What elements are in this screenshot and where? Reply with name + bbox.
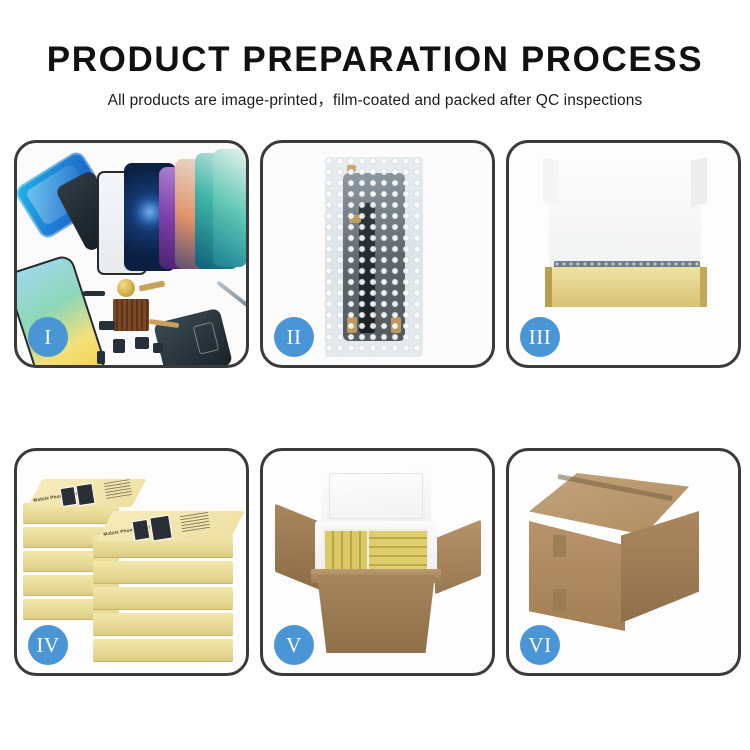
process-step-panel-1[interactable]: I [14,140,249,368]
carton-body [317,575,435,653]
phone-thumbnail-icon [60,486,78,507]
component-chip-icon [83,291,105,296]
carton-front-face [529,521,625,631]
box-lid-flap-left [543,157,559,206]
logic-board-icon [113,299,149,331]
process-step-panel-2[interactable]: II [260,140,495,368]
box-lid-flap-right [691,157,707,206]
bubble-bag-icon [325,157,423,357]
phone-green-icon [213,149,246,267]
carton-flap-right [435,520,481,595]
process-step-panel-5[interactable]: V [260,448,495,676]
step-badge-6: VI [520,625,560,665]
process-step-panel-4[interactable]: Mobile Phone Spare Parts Mobile Phone Sp… [14,448,249,676]
yellow-box-base-icon [545,267,707,307]
process-step-panel-3[interactable]: III [506,140,741,368]
step-badge-5: V [274,625,314,665]
yellow-boxes-horizontal [369,531,427,573]
box-edge-left [545,267,552,307]
phone-thumbnail-icon [149,515,173,542]
box-lid-icon [549,157,701,277]
foam-lid-icon [321,465,431,525]
tweezers-icon [216,280,246,309]
component-chip-icon [99,321,115,330]
speaker-module-icon [117,279,135,297]
component-chip-icon [153,343,163,353]
retail-box-icon [93,561,233,583]
phone-back-housing-icon [153,308,233,365]
step-badge-1: I [28,317,68,357]
yellow-boxes-vertical [325,531,367,573]
process-step-panel-6[interactable]: VI [506,448,741,676]
phone-thumbnail-icon [75,483,95,506]
component-chip-icon [135,337,149,349]
process-step-grid: I II [14,140,740,676]
product-preparation-page: PRODUCT PREPARATION PROCESS All products… [0,0,750,750]
page-title: PRODUCT PREPARATION PROCESS [0,40,750,80]
step-badge-2: II [274,317,314,357]
carton-tape-upper [553,535,566,557]
phone-thumbnail-icon [132,519,151,541]
page-header: PRODUCT PREPARATION PROCESS All products… [0,0,750,111]
carton-tape-lower [553,589,566,611]
flex-cable-icon [139,280,166,291]
bubble-texture [325,157,423,357]
retail-box-icon [93,639,233,661]
component-chip-icon [113,339,125,353]
page-subtitle: All products are image-printed，film-coat… [0,91,750,111]
step-badge-4: IV [28,625,68,665]
box-edge-right [700,267,707,307]
retail-box-icon [93,587,233,609]
retail-box-icon [93,613,233,635]
step-badge-3: III [520,317,560,357]
component-chip-icon [97,351,105,364]
